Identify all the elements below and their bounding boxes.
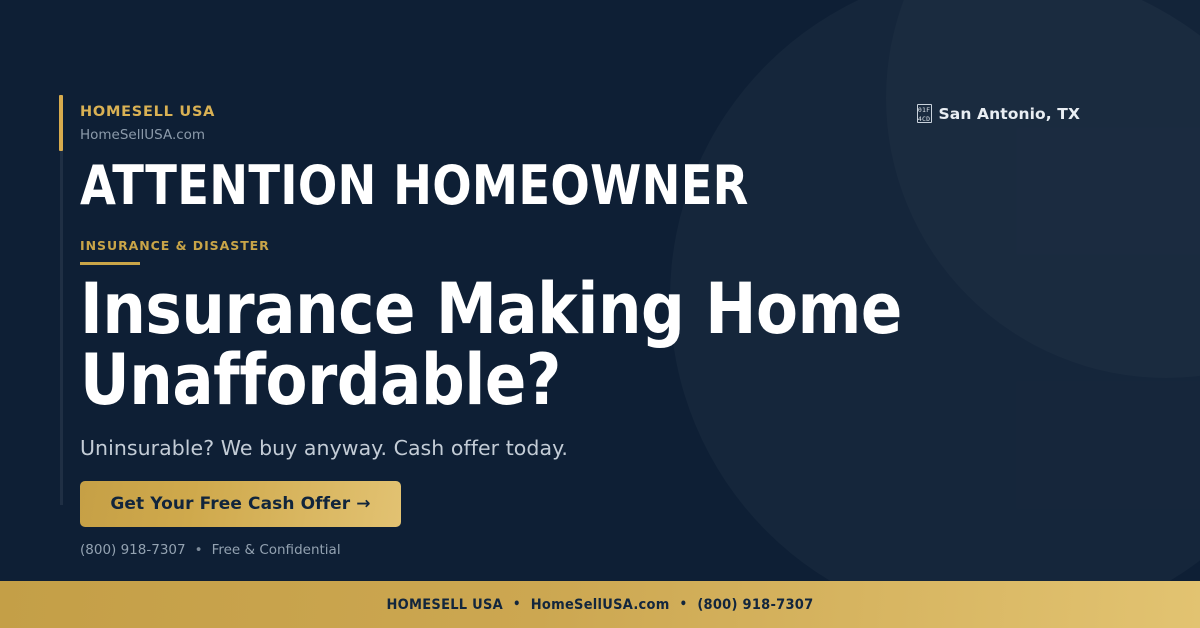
footer-separator-2: • [680,597,688,612]
contact-phone[interactable]: (800) 918-7307 [80,542,186,558]
get-free-cash-offer-button[interactable]: Get Your Free Cash Offer → [80,481,401,527]
brand-block: HOMESELL USA HomeSellUSA.com [80,105,215,142]
brand-website: HomeSellUSA.com [80,129,215,143]
contact-separator: • [195,542,203,558]
footer-website[interactable]: HomeSellUSA.com [531,597,670,613]
contact-line: (800) 918-7307 • Free & Confidential [80,542,341,558]
pin-icon: 01F 4CD [917,104,932,123]
left-accent-bar [59,95,63,151]
headline-line-2: Unaffordable? [80,345,953,416]
banner-content: HOMESELL USA HomeSellUSA.com 01F 4CD San… [80,0,1140,628]
footer-text: HOMESELL USA • HomeSellUSA.com • (800) 9… [387,597,814,613]
subheadline: Uninsurable? We buy anyway. Cash offer t… [80,436,568,460]
footer-phone[interactable]: (800) 918-7307 [697,597,813,613]
category-eyebrow: INSURANCE & DISASTER [80,238,270,253]
eyebrow-underline [80,262,140,265]
footer-brand: HOMESELL USA [387,597,503,613]
footer-separator-1: • [513,597,521,612]
promo-banner: HOMESELL USA HomeSellUSA.com 01F 4CD San… [0,0,1200,628]
pin-icon-codepoint-hi: 01F [918,106,931,115]
left-vertical-rule [60,95,63,505]
footer-bar: HOMESELL USA • HomeSellUSA.com • (800) 9… [0,581,1200,628]
brand-name: HOMESELL USA [80,105,215,120]
location-badge: 01F 4CD San Antonio, TX [917,104,1080,123]
location-label: San Antonio, TX [939,105,1080,123]
headline-line-1: Insurance Making Home [80,268,902,350]
page-title: Insurance Making Home Unaffordable? [80,274,953,416]
attention-headline: ATTENTION HOMEOWNER [80,157,749,215]
pin-icon-codepoint-lo: 4CD [918,115,931,124]
contact-note: Free & Confidential [212,542,341,558]
